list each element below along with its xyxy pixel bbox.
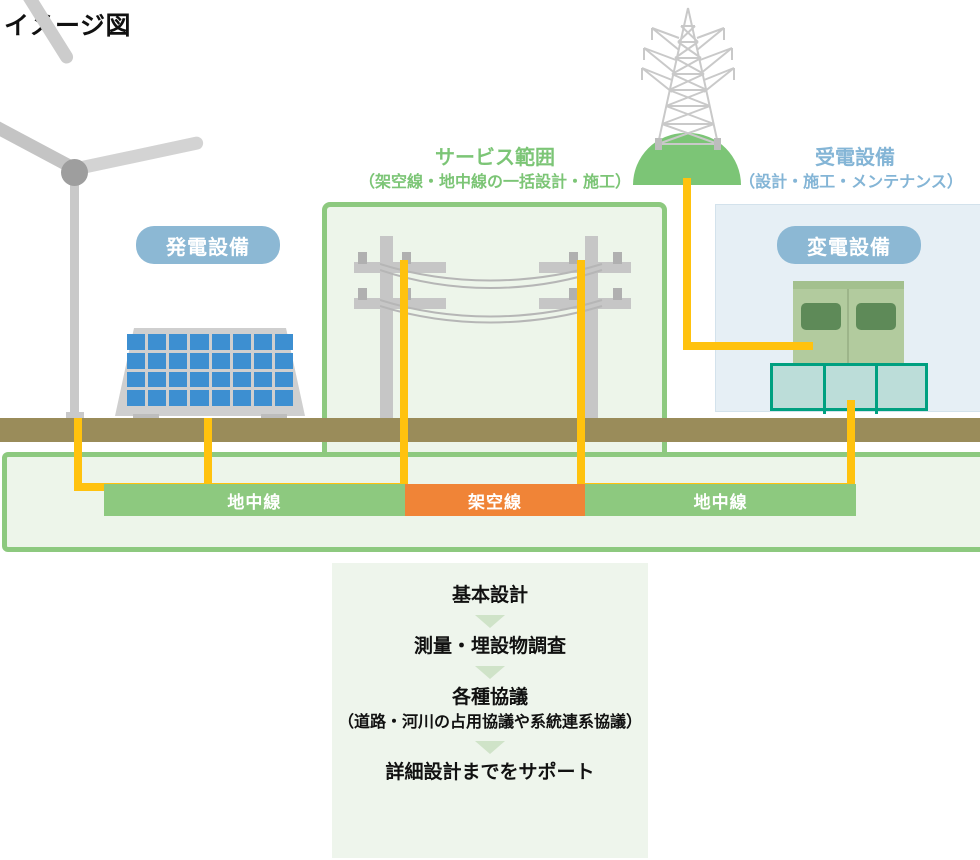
receiving-equipment-subheading: （設計・施工・メンテナンス） (716, 172, 980, 194)
power-cable-pole-left-vertical (400, 260, 408, 491)
badge-generation-equipment: 発電設備 (136, 226, 280, 264)
flow-arrow-1-icon (475, 615, 505, 628)
cable-segment-overhead: 架空線 (405, 484, 585, 516)
receiving-equipment-heading: 受電設備 (730, 146, 980, 170)
substation-panel-left (801, 303, 841, 330)
power-cable-turbine-vertical (74, 418, 82, 491)
flow-step-2: 測量・埋設物調査 (332, 634, 648, 660)
tower-foot-right (714, 138, 721, 150)
badge-substation-equipment: 変電設備 (777, 226, 921, 264)
power-cable-pylon-to-substation (683, 342, 813, 350)
cable-type-bar: 地中線 架空線 地中線 (104, 484, 856, 516)
ground-strip (0, 418, 980, 442)
power-cable-pole-right-vertical (577, 260, 585, 491)
solar-panel-icon (115, 328, 305, 424)
transmission-tower-icon (636, 4, 740, 154)
flow-step-3-note: （道路・河川の占用協議や系統連系協議） (332, 711, 648, 735)
page-title: イメージ図 (4, 6, 131, 42)
flow-step-3: 各種協議 (332, 685, 648, 711)
flow-step-1: 基本設計 (332, 583, 648, 609)
service-range-subheading: （架空線・地中線の一括設計・施工） (322, 172, 668, 194)
flow-arrow-3-icon (475, 741, 505, 754)
process-flow-panel: 基本設計 測量・埋設物調査 各種協議 （道路・河川の占用協議や系統連系協議） 詳… (332, 563, 648, 858)
flow-arrow-2-icon (475, 666, 505, 679)
cable-segment-underground-left: 地中線 (104, 484, 405, 516)
tower-foot-left (655, 138, 662, 150)
flow-step-4: 詳細設計までをサポート (332, 760, 648, 786)
substation-panel-right (856, 303, 896, 330)
substation-cabinet-divider (847, 289, 849, 365)
overhead-wires-icon (380, 250, 610, 325)
power-cable-substation-vertical (847, 400, 855, 491)
diagram-canvas: イメージ図 サービス範囲 （架空線・地中線の一括設計・施工） 受電 (0, 0, 980, 860)
power-cable-pylon-vertical (683, 178, 691, 350)
power-cable-solar-vertical (204, 418, 212, 491)
cable-segment-underground-right: 地中線 (585, 484, 856, 516)
substation-cabinet-top (793, 281, 904, 289)
service-range-heading: サービス範囲 (330, 146, 660, 170)
